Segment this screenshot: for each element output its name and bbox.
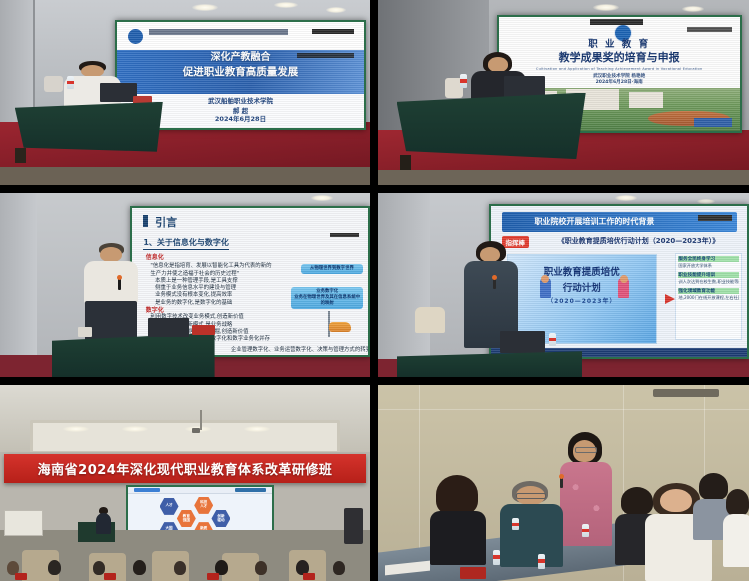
ceiling-light [192,4,218,11]
university-name-graphic [149,29,288,40]
panel-3-informatization-digitalization: 引言 1、关于信息化与数字化 信息化 "信息化是指培育、发展以智能化工具为代表的… [0,193,370,377]
eyeglasses-icon [575,447,597,454]
attendee-head [660,489,692,513]
attendee-head [174,561,186,575]
ceiling-light [274,2,298,8]
ceiling-rail [653,389,720,397]
attendee-torso [430,511,486,565]
panel-5-training-class-room-banner: 海南省2024年深化现代职业教育体系改革研修班 人才 科技 人才 教育 强国 创… [0,385,370,581]
water-bottle [493,550,500,565]
campus-building [629,92,663,108]
attendee-torso [500,504,563,567]
bullet-item: 是业务的数字化,是数字化的基础 [155,298,232,306]
draped-table [15,102,163,152]
poster-figure-right-head [620,275,628,283]
slide-heading: 1、关于信息化与数字化 [143,237,229,250]
attendee-head [133,560,146,575]
poster-figure-left-head [541,275,549,283]
slide-title-line2: 教学成果奖的培育与申报 [499,52,740,65]
screen-corner-block [694,118,733,127]
slide-date-place: 2024年6月28日·海南 [542,80,696,85]
attendee-torso [723,514,749,567]
photo-collage: 深化产教融合 促进职业教育高质量发展 武汉船舶职业技术学院 郝 超 2024年6… [0,0,749,578]
projector-mount [200,410,202,430]
attendee-head [255,561,267,575]
side-item-head: 强化领域教育功能 [678,288,738,294]
university-logo-icon [127,28,144,45]
attendee-head [333,561,345,575]
water-bottle [538,554,545,569]
slide-title-line1: 职 业 教 育 [499,40,740,51]
right-arrow-icon [665,294,675,304]
screen-corner-strip [698,215,731,221]
screen-corner-strip-2 [297,53,354,58]
speaker-head [488,57,508,71]
wall-column-left [0,193,37,362]
poster-years: （2020—2023年） [508,296,656,305]
screen-corner-strip [330,233,358,237]
screen-corner-strip [312,29,354,34]
callout-box-1: 从物理世界到数字世界 [301,264,364,274]
eyeglasses-icon [516,493,546,499]
panel-4-training-policy-background: 职业院校开展培训工作的时代背景 指挥棒 《职业教育提质培优行动计划（2020—2… [378,193,749,377]
table-name-card [192,325,214,334]
attendee-head [93,561,105,575]
water-bottle [549,333,556,346]
chair [44,76,63,93]
attendee-hair [726,489,749,516]
table-name-card [303,573,315,580]
side-item-body: 地,2000门在线开放课程,左右社区教育示范区 [678,295,738,301]
table-leg [15,148,26,163]
audience-area [0,510,370,581]
bullet-item: "信息化是指培育、发展以智能化工具为代表的新的生产力并使之造福于社会的历史过程" [150,261,273,277]
water-bottle [582,524,589,537]
water-bottle [512,518,519,530]
wall-seam-horizontal [378,409,749,410]
slide-affiliation: 武汉职业技术学院 杨艳艳 [542,74,696,79]
screen-top-strip [590,19,643,25]
side-item-head: 服务全民终身学习 [678,256,738,262]
seated-attendee [430,475,486,565]
slide-footer-note: 企业管理数字化、业务运营数字化、决策与管理方式的转变 [231,345,370,353]
table-leg [400,155,411,170]
laptop [500,331,545,353]
ceiling-light [697,199,715,204]
table-name-card [460,567,486,579]
subhead-informatization: 信息化 [146,252,164,261]
speaker-head [480,247,500,262]
ceiling-light [615,195,637,201]
speaker-head [100,247,122,262]
ceiling-light [593,4,619,11]
draped-table [397,93,586,160]
panel-6-attendee-question [378,385,749,581]
handheld-microphone-icon [118,278,121,290]
panel-1-lecture-hall-keynote: 深化产教融合 促进职业教育高质量发展 武汉船舶职业技术学院 郝 超 2024年6… [0,0,370,185]
slide-banner-title: 职业院校开展培训工作的时代背景 [534,216,654,227]
poster-line2: 行动计划 [508,280,656,294]
panel-2-teaching-achievement-award: 职 业 教 育 教学成果奖的培育与申报 Cultivation and Appl… [378,0,749,185]
floor-front [0,167,370,186]
seated-attendee [500,481,563,567]
table-name-card [207,573,219,580]
seated-attendee [723,489,749,567]
event-banner: 海南省2024年深化现代职业教育体系改革研修班 [4,454,367,483]
side-item-body: 国家开放大学体系 [678,263,738,269]
poster-line1: 职业教育提质培优 [508,264,656,278]
ceiling-light [682,6,704,12]
chair [415,307,445,333]
table-name-card [104,573,116,580]
table-name-card [15,573,27,580]
screen-corner-strip [687,27,733,32]
wall-column-left [378,193,430,366]
paper-cup [78,327,93,336]
slide-section-title: 引言 [155,214,177,230]
ceiling-light [311,195,333,201]
side-item-head: 职业技能提升培训 [678,272,738,278]
section-accent-bar [143,215,148,227]
callout-box-2: 业务数字化 业务在物理世界及其在信息系统中的映射 [291,287,363,309]
laptop [100,83,137,102]
attendee-head [48,560,61,575]
policy-side-panel: 服务全民终身学习 国家开放大学体系 职业技能提升培训 训人次达到在校生数,职业技… [675,253,741,341]
slide-subtitle-english: Cultivation and Application of Teaching … [499,67,740,71]
attendee-hair [436,475,478,515]
projector [192,428,200,433]
event-banner-text: 海南省2024年深化现代职业教育体系改革研修班 [38,459,333,478]
side-item-body: 训人次达到在校生数,职业技能等级证书制度试点,500个示范点 [678,279,738,285]
laptop [148,318,189,336]
slide-title-line2: 促进职业教育高质量发展 [117,66,365,78]
water-bottle [460,74,467,88]
illustration-car-icon [329,322,351,332]
slide-document-title: 《职业教育提质培优行动计划（2020—2023年）》 [558,236,719,246]
water-bottle [67,76,74,89]
speaker-shirt [84,261,138,303]
handheld-microphone-icon [493,278,496,289]
floor-front [378,170,749,185]
